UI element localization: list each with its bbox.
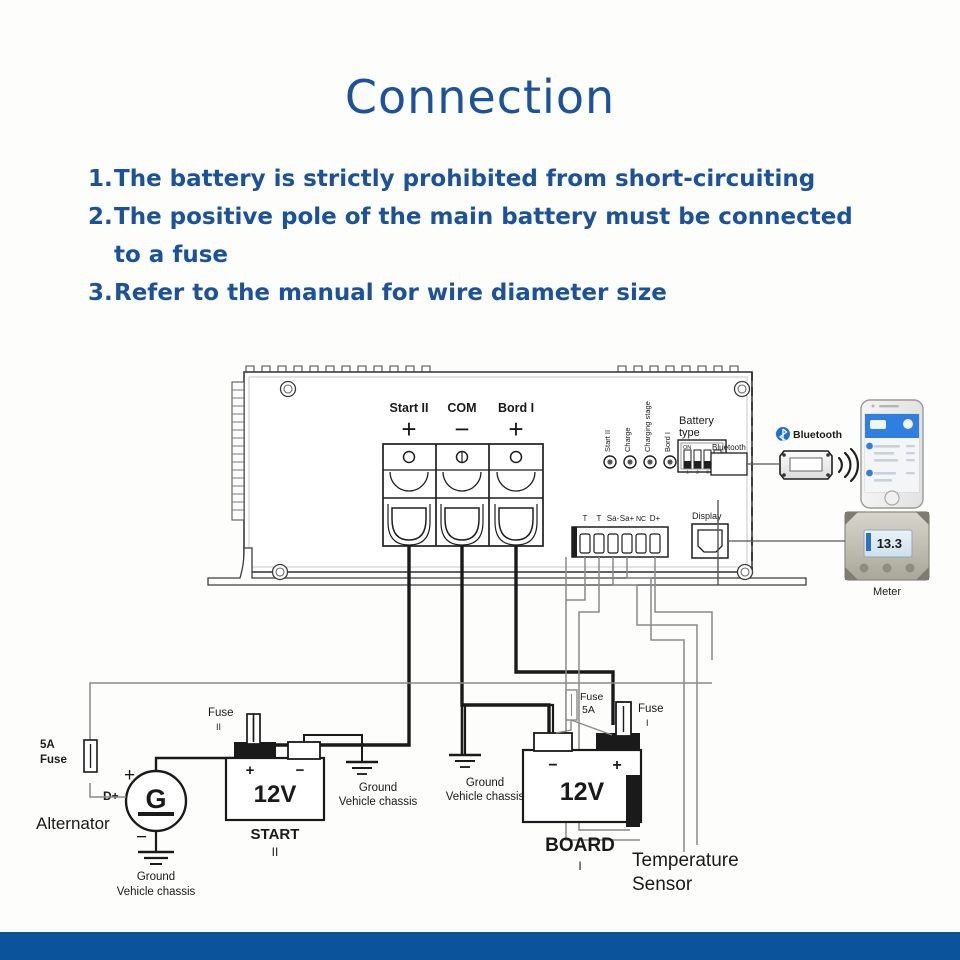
pin-label-sa-plus: Sa+	[620, 514, 635, 523]
bluetooth-port[interactable]: Bluetooth	[711, 443, 747, 475]
battery-start-unit: + − 12V START II Fuse II Ground Vehicle …	[208, 707, 418, 859]
smartphone-app	[861, 400, 923, 508]
fuse-sense-label-line1: Fuse	[580, 691, 604, 703]
bluetooth-port-label: Bluetooth	[712, 443, 746, 452]
led-label-start: Start II	[603, 430, 612, 452]
pin-label-d-plus: D+	[650, 514, 661, 523]
alternator-label: Alternator	[36, 814, 110, 833]
fuse-5a-sense	[566, 690, 577, 720]
fuse-board-i	[616, 702, 631, 736]
heatsink-fins-top	[246, 366, 738, 372]
alternator-ground-line2: Vehicle chassis	[117, 886, 196, 898]
battery-start-minus: −	[296, 762, 305, 779]
battery-board-ground-line2: Vehicle chassis	[446, 791, 525, 803]
fuse-board-label-line2: I	[646, 718, 649, 728]
alternator-ground-symbol	[138, 852, 174, 864]
temperature-sensor-line2: Sensor	[632, 874, 693, 895]
bluetooth-accessory: Bluetooth	[747, 400, 923, 508]
pin-label-sa-minus: Sa-	[607, 514, 620, 523]
battery-board-minus: −	[548, 757, 557, 774]
dip-title-line1: Battery	[679, 415, 714, 427]
battery-start-roman: II	[272, 845, 279, 859]
bluetooth-logo-text: Bluetooth	[793, 429, 842, 441]
fuse-start-label-line2: II	[216, 722, 221, 732]
wireless-signal-icon	[839, 449, 858, 481]
controller-device: Start II COM Bord I + − + Start II Charg…	[208, 366, 806, 585]
fuse-5a-label-line2: Fuse	[40, 754, 67, 766]
fuse-board-label-line1: Fuse	[638, 703, 664, 715]
terminal-label-1: COM	[447, 401, 476, 415]
pin-label-nc: NC	[636, 516, 646, 523]
battery-board-voltage: 12V	[560, 778, 605, 806]
battery-start-voltage: 12V	[254, 781, 297, 808]
power-wires	[252, 545, 613, 750]
battery-start-plus: +	[246, 762, 255, 779]
terminal-labels: Start II COM Bord I + − +	[390, 401, 535, 444]
wiring-diagram: Start II COM Bord I + − + Start II Charg…	[0, 0, 960, 960]
power-terminal-block	[383, 444, 543, 546]
footer-bar	[0, 932, 960, 960]
terminal-polarity-0: +	[401, 414, 416, 444]
battery-board-roman: I	[578, 859, 581, 873]
alternator-dplus-label: D+	[103, 789, 119, 803]
terminal-polarity-1: −	[454, 414, 469, 444]
fuse-5a-dplus	[84, 740, 97, 772]
battery-start-ground-line1: Ground	[359, 782, 397, 794]
pin-label-t2: T	[597, 514, 602, 523]
fuse-5a-label-line1: 5A	[40, 739, 55, 751]
terminal-polarity-2: +	[508, 414, 523, 444]
alternator-plus: +	[124, 765, 135, 786]
diagram-page: Connection 1. The battery is strictly pr…	[0, 0, 960, 960]
pin-label-t1: T	[583, 514, 588, 523]
bluetooth-module	[780, 451, 832, 479]
led-label-charging-stage: Charging stage	[643, 401, 652, 452]
battery-board-unit: − + 12V BOARD I Temperature Sensor Groun…	[446, 690, 739, 895]
battery-board-ground-symbol	[449, 755, 481, 767]
signal-connector[interactable]: T T Sa- Sa+ NC D+	[572, 514, 668, 557]
battery-board-name: BOARD	[545, 835, 615, 856]
meter-label: Meter	[873, 586, 901, 598]
terminal-label-2: Bord I	[498, 401, 534, 415]
alternator-symbol: G	[145, 784, 166, 814]
alternator-unit: G + − D+ Alternator Ground Vehicle chass…	[36, 739, 246, 898]
fuse-start-ii	[247, 714, 260, 744]
bluetooth-logo-icon	[776, 427, 790, 444]
temperature-sensor-probe	[626, 775, 640, 827]
battery-start-ground-line2: Vehicle chassis	[339, 796, 418, 808]
battery-board-plus: +	[612, 757, 621, 774]
alternator-minus: −	[136, 827, 147, 848]
dip-title-line2: type	[679, 427, 700, 439]
battery-start-name: START	[251, 826, 300, 843]
heatsink-fins-left	[232, 382, 244, 520]
led-label-charge: Charge	[623, 427, 632, 452]
alternator-ground-line1: Ground	[137, 871, 175, 883]
fuse-start-label-line1: Fuse	[208, 707, 234, 719]
temperature-sensor-line1: Temperature	[632, 850, 739, 871]
terminal-label-0: Start II	[390, 401, 429, 415]
battery-start-ground-symbol	[346, 762, 378, 774]
fuse-sense-label-line2: 5A	[582, 704, 595, 716]
battery-board-ground-line1: Ground	[466, 777, 504, 789]
led-label-bord: Bord I	[663, 432, 672, 452]
meter-reading: 13.3	[877, 536, 902, 551]
